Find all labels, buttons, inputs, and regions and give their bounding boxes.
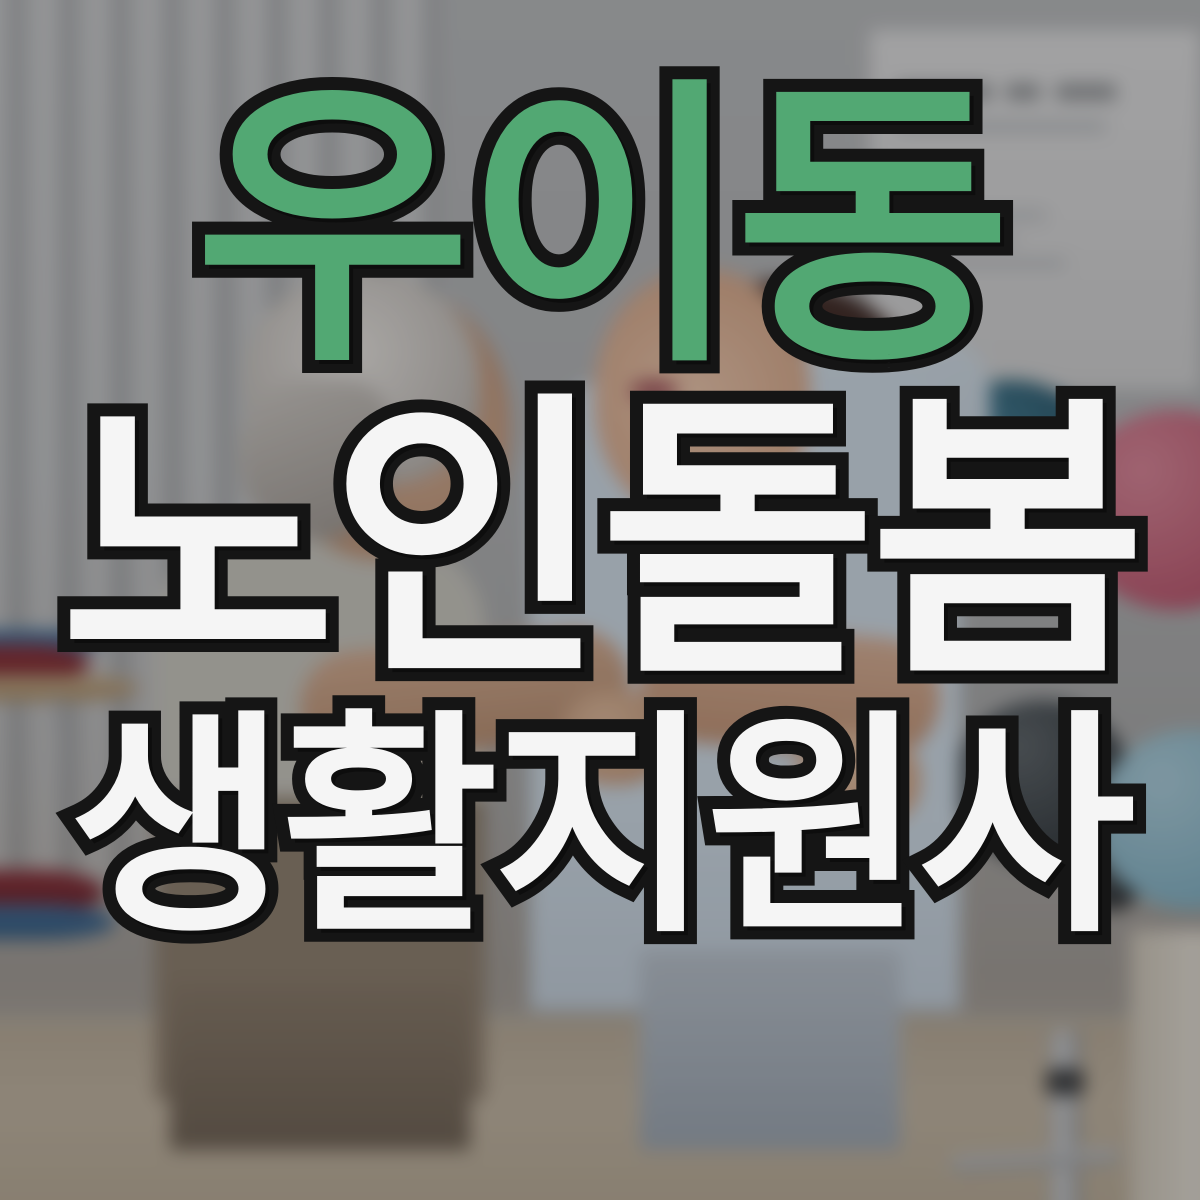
headline-line-3: 생활지원사: [69, 710, 1131, 946]
headline-block: 우이동 노인돌봄 생활지원사: [0, 0, 1200, 1200]
poster-canvas: 우이동 노인돌봄 생활지원사: [0, 0, 1200, 1200]
headline-line-2: 노인돌봄: [60, 392, 1140, 692]
headline-line-1: 우이동: [195, 78, 1005, 378]
